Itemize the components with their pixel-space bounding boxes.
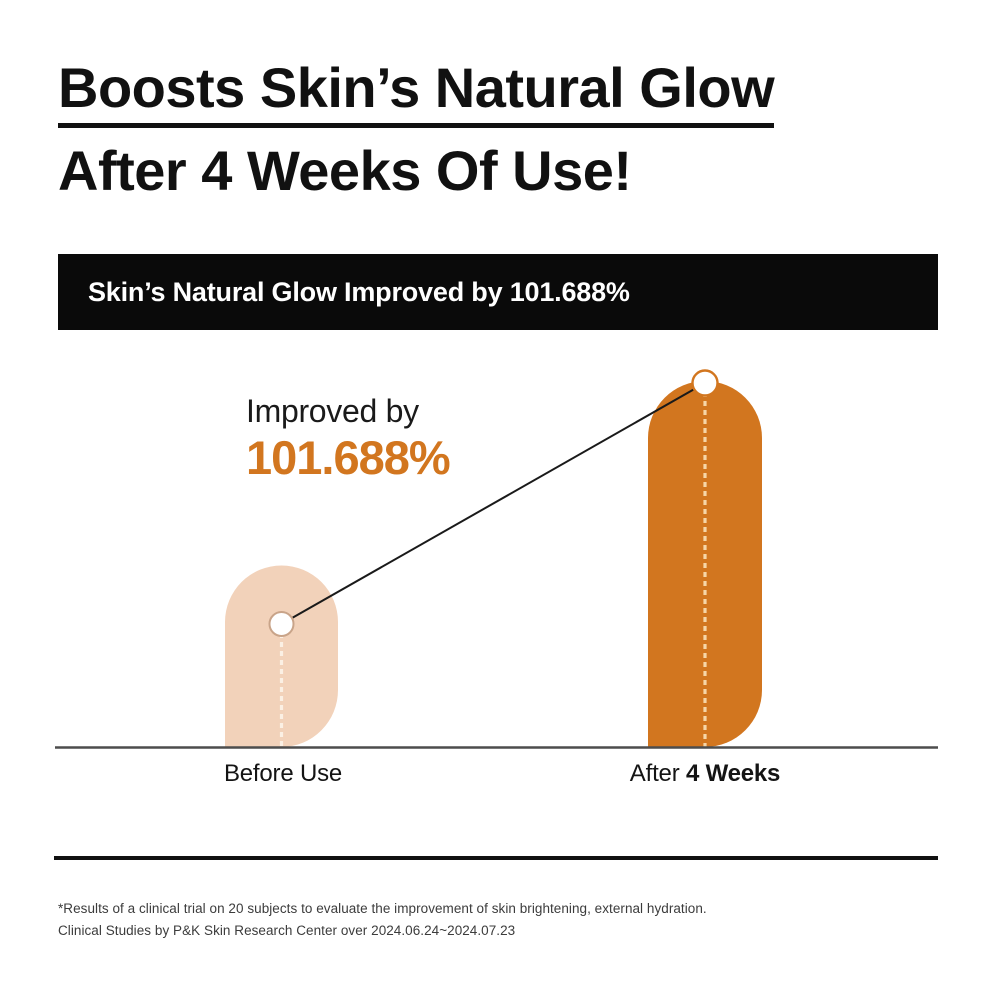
- improvement-callout-label: Improved by: [246, 394, 450, 430]
- axis-label-before-use-text: Before Use: [224, 760, 342, 787]
- footnote-line-1: *Results of a clinical trial on 20 subje…: [58, 898, 918, 920]
- footer-divider: [54, 856, 938, 860]
- improvement-callout: Improved by 101.688%: [246, 394, 450, 484]
- data-point-marker-before: [270, 612, 294, 636]
- result-banner: Skin’s Natural Glow Improved by 101.688%: [58, 254, 938, 330]
- headline-block: Boosts Skin’s Natural Glow After 4 Weeks…: [58, 58, 942, 204]
- axis-label-after-emphasis: 4 Weeks: [686, 760, 780, 787]
- axis-label-before-use: Before Use: [200, 760, 366, 788]
- footnote-line-2: Clinical Studies by P&K Skin Research Ce…: [58, 920, 918, 942]
- footnote-block: *Results of a clinical trial on 20 subje…: [58, 898, 918, 942]
- bar-before-use: [225, 566, 338, 748]
- result-banner-text: Skin’s Natural Glow Improved by 101.688%: [88, 277, 630, 308]
- data-point-marker-after: [693, 371, 718, 396]
- axis-label-after-4-weeks: After 4 Weeks: [601, 760, 809, 788]
- axis-label-after-prefix: After: [630, 760, 686, 787]
- headline-line-2: After 4 Weeks Of Use!: [58, 139, 942, 203]
- infographic-page: Boosts Skin’s Natural Glow After 4 Weeks…: [0, 0, 1000, 1000]
- bar-after-4-weeks: [648, 381, 762, 747]
- headline-line-1: Boosts Skin’s Natural Glow: [58, 58, 774, 128]
- improvement-callout-value: 101.688%: [246, 432, 450, 484]
